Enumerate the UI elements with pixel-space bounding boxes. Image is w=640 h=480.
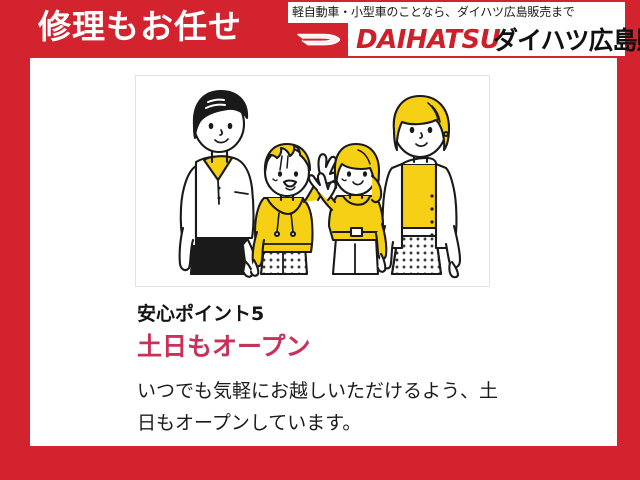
point-label: 安心ポイント5	[137, 301, 557, 327]
content-card: 安心ポイント5 土日もオープン いつでも気軽にお越しいただけるよう、土日もオープ…	[30, 58, 617, 446]
dealer-logo-panel: 軽自動車・小型車のことなら、ダイハツ広島販売まで DAIHATSU ダイハツ広島…	[288, 2, 625, 56]
brand-latin-text: DAIHATSU	[356, 25, 500, 55]
headline-text: 修理もお任せ	[38, 7, 242, 47]
daihatsu-d-emblem-icon	[288, 23, 348, 56]
point-title: 土日もオープン	[137, 331, 557, 363]
logo-tagline: 軽自動車・小型車のことなら、ダイハツ広島販売まで	[292, 4, 575, 20]
family-illustration-svg	[136, 76, 489, 286]
illustration-frame	[135, 75, 490, 287]
body-text: いつでも気軽にお越しいただけるよう、土日もオープンしています。	[137, 375, 512, 439]
brand-japanese-text: ダイハツ広島販売	[493, 26, 640, 55]
header-bar: 修理もお任せ 軽自動車・小型車のことなら、ダイハツ広島販売まで DAIHATSU	[0, 0, 640, 58]
advertisement-banner: 修理もお任せ 軽自動車・小型車のことなら、ダイハツ広島販売まで DAIHATSU	[0, 0, 640, 480]
text-block: 安心ポイント5 土日もオープン いつでも気軽にお越しいただけるよう、土日もオープ…	[137, 301, 557, 439]
logo-lockup: DAIHATSU ダイハツ広島販売	[288, 23, 628, 56]
